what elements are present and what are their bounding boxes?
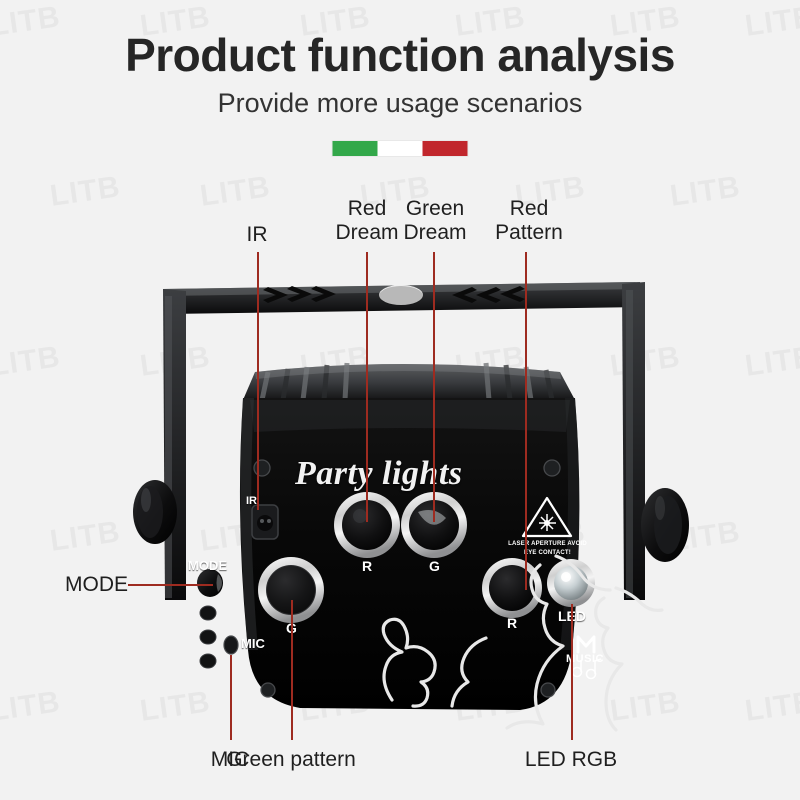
- callout-led-rgb: LED RGB: [506, 748, 636, 772]
- mic-sensor: [224, 636, 238, 654]
- panel-label-mode: MODE: [188, 558, 227, 573]
- laser-warning-text: LASER APERTURE AVOID EYE CONTACT!: [500, 540, 595, 557]
- callout-ir: IR: [217, 223, 297, 247]
- control-buttons: [200, 606, 216, 668]
- bracket-knob-right: [641, 488, 689, 562]
- brand-text: Party lights: [295, 455, 463, 493]
- leader-green-dream: [433, 252, 435, 522]
- product-image: [0, 0, 800, 800]
- panel-label-lens-red-pattern: R: [507, 615, 517, 631]
- panel-label-ir: IR: [246, 495, 257, 507]
- leader-mic: [230, 655, 232, 740]
- ir-receiver: [252, 505, 278, 539]
- leader-green-pattern: [291, 600, 293, 740]
- leader-mode: [128, 584, 213, 586]
- leader-ir: [257, 252, 259, 510]
- bracket-knob-left: [133, 480, 177, 544]
- mode-knob: [197, 569, 223, 597]
- callout-green-pattern: Green pattern: [216, 748, 366, 772]
- panel-label-lens-red-dream: R: [362, 558, 372, 574]
- leader-red-pattern: [525, 252, 527, 590]
- leader-led-rgb: [571, 604, 573, 740]
- panel-label-mic: MIC: [241, 636, 265, 651]
- infographic-canvas: LITBLITBLITBLITBLITBLITBLITBLITBLITBLITB…: [0, 0, 800, 800]
- callout-mode: MODE: [28, 573, 128, 597]
- leader-red-dream: [366, 252, 368, 522]
- callout-red-pattern: Red Pattern: [474, 197, 584, 244]
- panel-label-lens-green-dream: G: [429, 558, 440, 574]
